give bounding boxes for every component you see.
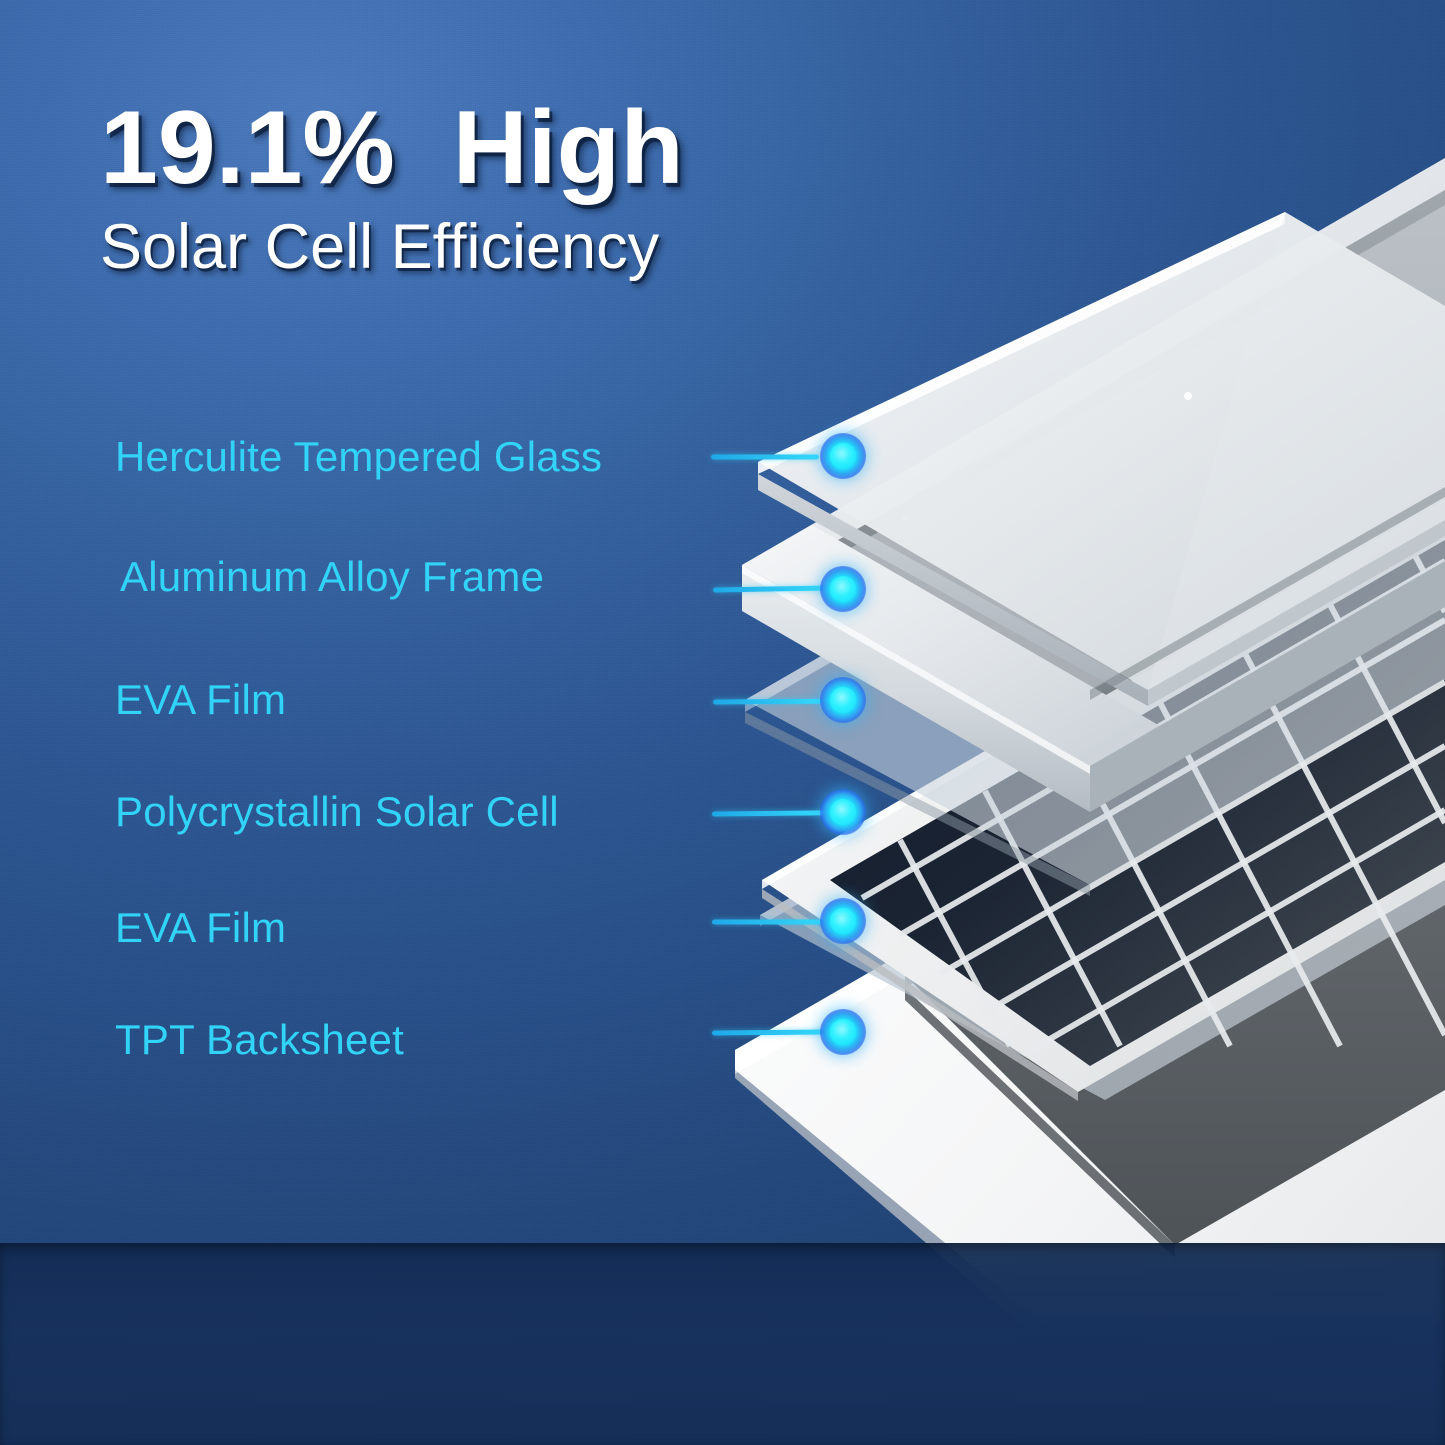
callout-label-aluminum-alloy-frame: Aluminum Alloy Frame xyxy=(120,553,544,601)
callout-leader-line-eva-film-top xyxy=(713,699,823,705)
callout-leader-line-tpt-backsheet xyxy=(712,1030,826,1036)
callout-dot-polycrystallin-solar-cell[interactable] xyxy=(820,789,866,835)
callout-dot-eva-film-bottom[interactable] xyxy=(820,898,866,944)
callout-label-eva-film-top: EVA Film xyxy=(115,676,286,724)
callout-leader-line-herculite-tempered-glass xyxy=(711,455,819,460)
callout-dot-aluminum-alloy-frame[interactable] xyxy=(820,566,866,612)
callout-label-tpt-backsheet: TPT Backsheet xyxy=(115,1016,404,1064)
callout-dot-eva-film-top[interactable] xyxy=(820,677,866,723)
callout-label-herculite-tempered-glass: Herculite Tempered Glass xyxy=(115,433,602,481)
callout-leader-line-polycrystallin-solar-cell xyxy=(712,810,824,816)
callout-label-polycrystallin-solar-cell: Polycrystallin Solar Cell xyxy=(115,788,559,836)
callout-leader-line-eva-film-bottom xyxy=(712,920,824,925)
callout-group: Herculite Tempered GlassAluminum Alloy F… xyxy=(0,0,1445,1445)
infographic-canvas: 19.1% High Solar Cell Efficiency Herculi… xyxy=(0,0,1445,1445)
bottom-band xyxy=(0,1243,1445,1445)
callout-leader-line-aluminum-alloy-frame xyxy=(713,586,825,593)
bottom-band-texture xyxy=(0,1243,1445,1445)
callout-dot-tpt-backsheet[interactable] xyxy=(820,1009,866,1055)
callout-dot-herculite-tempered-glass[interactable] xyxy=(820,433,866,479)
callout-label-eva-film-bottom: EVA Film xyxy=(115,904,286,952)
